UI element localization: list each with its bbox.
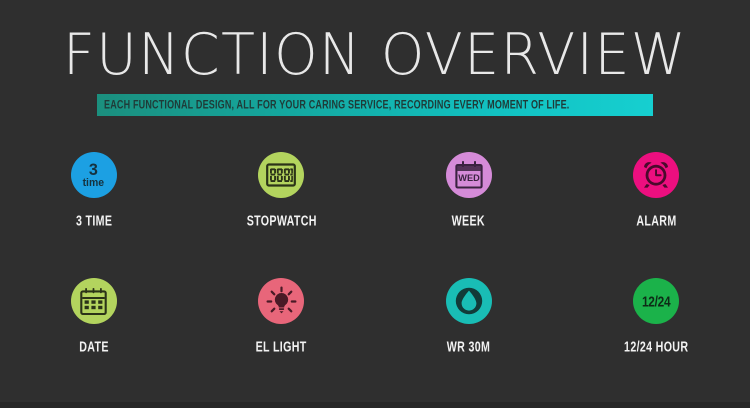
feature-label: STOPWATCH	[246, 212, 316, 229]
feature-item-12-24-hour[interactable]: 12/24 12/24 HOUR	[563, 278, 750, 356]
feature-item-week[interactable]: WED WEEK	[375, 152, 563, 230]
feature-item-stopwatch[interactable]: STOPWATCH	[188, 152, 376, 230]
calendar-weekday-icon: WED	[446, 152, 492, 198]
feature-label: DATE	[79, 338, 109, 355]
three-time-glyph-stack: 3 time	[82, 162, 105, 189]
subtitle-container: EACH FUNCTIONAL DESIGN, ALL FOR YOUR CAR…	[0, 94, 750, 116]
lightbulb-icon	[258, 278, 304, 324]
three-time-number: 3	[83, 162, 104, 177]
function-overview-page: FUNCTION OVERVIEW EACH FUNCTIONAL DESIGN…	[0, 0, 750, 408]
feature-label: EL LIGHT	[256, 338, 307, 355]
header: FUNCTION OVERVIEW EACH FUNCTIONAL DESIGN…	[0, 24, 750, 116]
svg-text:WED: WED	[458, 173, 480, 183]
feature-label: 12/24 HOUR	[624, 338, 688, 355]
feature-item-wr-30m[interactable]: WR 30M	[375, 278, 563, 356]
feature-label: ALARM	[636, 212, 676, 229]
feature-row: 3 time 3 TIME	[0, 152, 750, 230]
feature-row: DATE	[0, 278, 750, 356]
water-drop-icon	[446, 278, 492, 324]
feature-label: 3 TIME	[76, 212, 112, 229]
feature-item-date[interactable]: DATE	[0, 278, 188, 356]
feature-label: WEEK	[452, 212, 485, 229]
three-time-word: time	[83, 178, 104, 189]
subtitle-text: EACH FUNCTIONAL DESIGN, ALL FOR YOUR CAR…	[104, 98, 569, 113]
twelve-twentyfour-hour-text: 12/24	[642, 293, 670, 310]
bottom-strip	[0, 402, 750, 408]
subtitle-banner: EACH FUNCTIONAL DESIGN, ALL FOR YOUR CAR…	[97, 94, 652, 116]
feature-label: WR 30M	[447, 338, 490, 355]
feature-item-alarm[interactable]: ALARM	[563, 152, 750, 230]
alarm-clock-icon	[633, 152, 679, 198]
page-title: FUNCTION OVERVIEW	[11, 24, 739, 86]
stopwatch-digital-display-icon	[258, 152, 304, 198]
twelve-twentyfour-hour-icon: 12/24	[633, 278, 679, 324]
feature-item-3-time[interactable]: 3 time 3 TIME	[0, 152, 188, 230]
feature-item-el-light[interactable]: EL LIGHT	[188, 278, 376, 356]
calendar-grid-icon	[71, 278, 117, 324]
feature-grid: 3 time 3 TIME	[0, 152, 750, 356]
three-time-icon: 3 time	[71, 152, 117, 198]
